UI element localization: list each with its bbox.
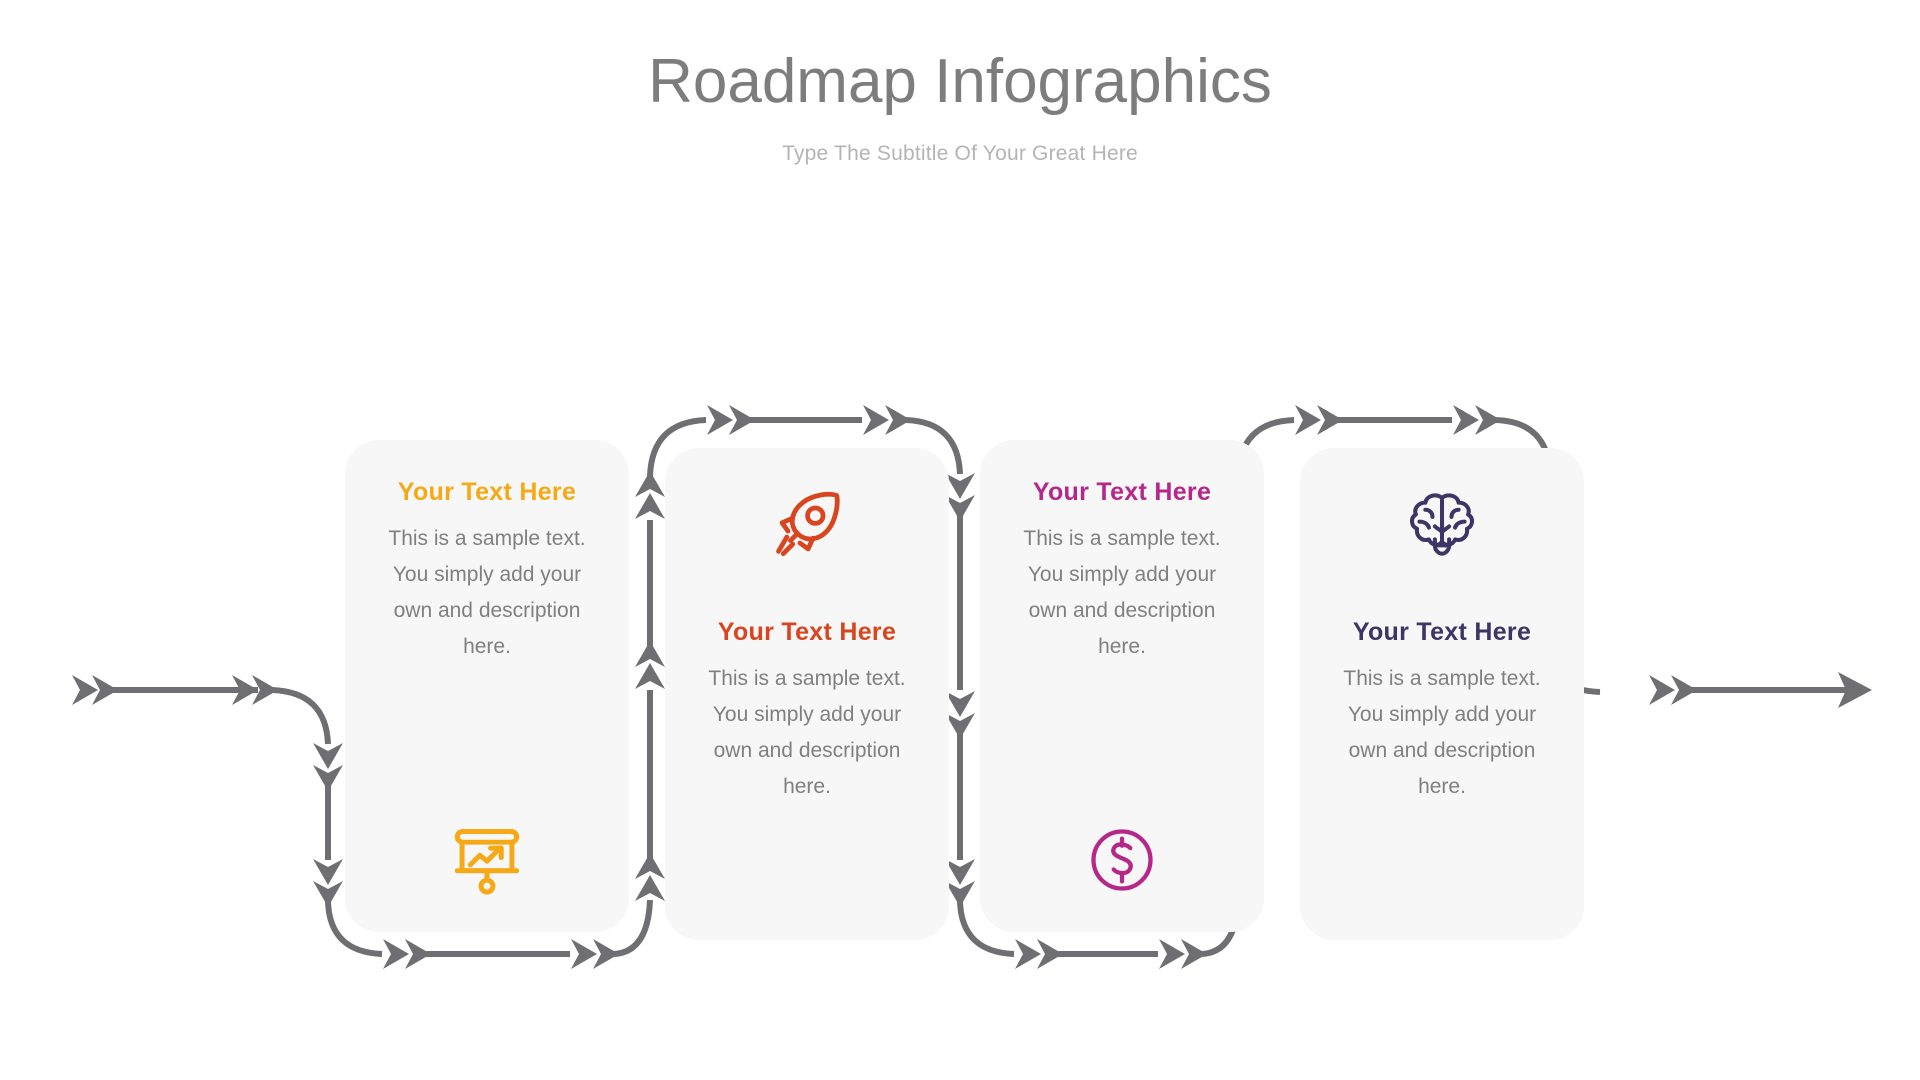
roadmap-card-4[interactable]: Your Text Here This is a sample text. Yo…	[1300, 448, 1584, 940]
roadmap-card-1[interactable]: Your Text Here This is a sample text. Yo…	[345, 440, 629, 932]
brain-icon	[1404, 486, 1480, 562]
roadmap-card-2[interactable]: Your Text Here This is a sample text. Yo…	[665, 448, 949, 940]
page-subtitle: Type The Subtitle Of Your Great Here	[0, 142, 1920, 166]
card-1-content: Your Text Here This is a sample text. Yo…	[375, 478, 599, 665]
card-1-body: This is a sample text. You simply add yo…	[375, 521, 599, 665]
slide-canvas: Roadmap Infographics Type The Subtitle O…	[0, 0, 1920, 1080]
card-2-heading: Your Text Here	[718, 618, 896, 647]
dollar-coin-icon	[1084, 822, 1160, 898]
card-4-body: This is a sample text. You simply add yo…	[1330, 661, 1554, 805]
card-2-body: This is a sample text. You simply add yo…	[695, 661, 919, 805]
rocket-icon	[769, 486, 845, 562]
slide-header: Roadmap Infographics Type The Subtitle O…	[0, 48, 1920, 166]
card-3-content: Your Text Here This is a sample text. Yo…	[1010, 478, 1234, 665]
card-3-body: This is a sample text. You simply add yo…	[1010, 521, 1234, 665]
presentation-chart-icon	[449, 822, 525, 898]
card-1-heading: Your Text Here	[398, 478, 576, 507]
roadmap-card-3[interactable]: Your Text Here This is a sample text. Yo…	[980, 440, 1264, 932]
card-4-content: Your Text Here This is a sample text. Yo…	[1330, 618, 1554, 805]
card-4-heading: Your Text Here	[1353, 618, 1531, 647]
card-2-content: Your Text Here This is a sample text. Yo…	[695, 618, 919, 805]
card-3-heading: Your Text Here	[1033, 478, 1211, 507]
page-title: Roadmap Infographics	[0, 48, 1920, 116]
